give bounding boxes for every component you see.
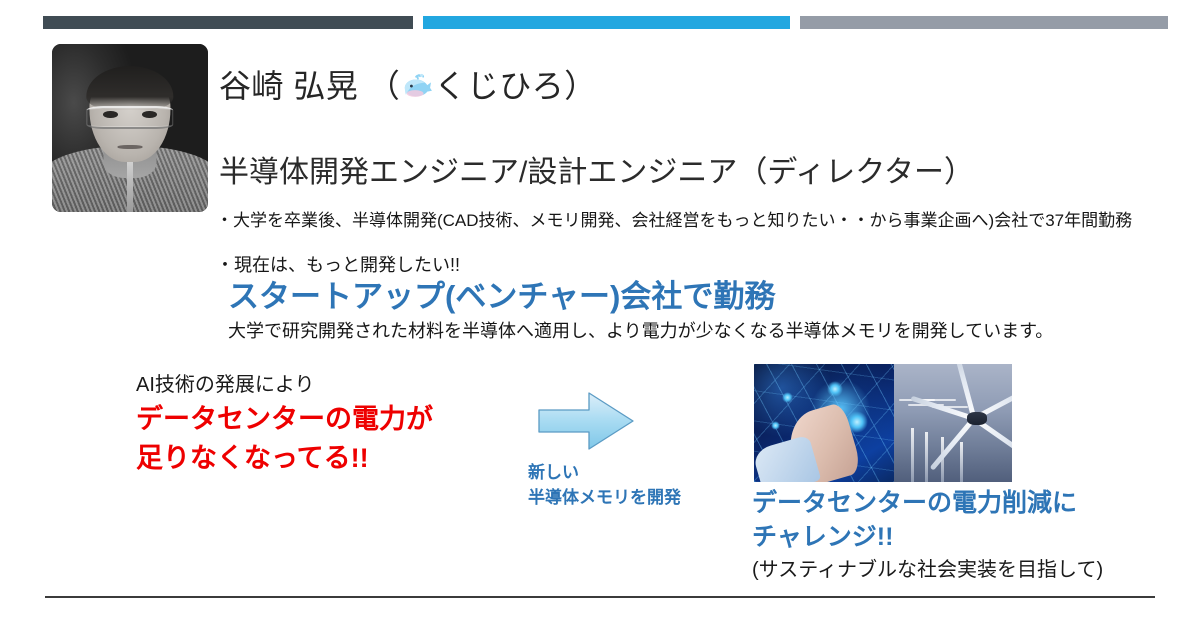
career-summary: ・大学を卒業後、半導体開発(CAD技術、メモリ開発、会社経営をもっと知りたい・・… bbox=[216, 210, 1132, 232]
turbine-hub bbox=[967, 412, 987, 425]
profile-name: 谷崎 弘晃 （ くじひろ） bbox=[219, 66, 597, 110]
portrait-collar bbox=[127, 155, 133, 212]
current-work-detail: 大学で研究開発された材料を半導体へ適用し、より電力が少なくなる半導体メモリを開発… bbox=[228, 320, 1053, 343]
problem-lead: AI技術の発展により bbox=[136, 372, 433, 398]
arrow-caption-line-1: 新しい bbox=[528, 461, 681, 486]
footer-divider bbox=[45, 596, 1155, 598]
portrait-photo bbox=[52, 44, 208, 212]
profile-name-handle: くじひろ） bbox=[434, 68, 597, 104]
network-node bbox=[771, 421, 780, 430]
turbine-pole bbox=[911, 428, 914, 482]
digital-network-photo bbox=[754, 364, 894, 482]
portrait-eye-left bbox=[103, 111, 117, 118]
current-status-lead: ・現在は、もっと開発したい!! bbox=[216, 254, 460, 277]
wind-turbine-photo bbox=[894, 364, 1012, 482]
problem-block: AI技術の発展により データセンターの電力が 足りなくなってる!! bbox=[136, 372, 433, 477]
problem-line-1: データセンターの電力が bbox=[136, 401, 433, 437]
challenge-subtitle: (サスティナブルな社会実装を目指して) bbox=[752, 557, 1103, 583]
challenge-line-1: データセンターの電力削減に bbox=[752, 487, 1103, 521]
turbine-pole bbox=[960, 442, 963, 482]
slide-root: 谷崎 弘晃 （ くじひろ） 半導体開発エンジニア/設計エンジニア（ディレクター）… bbox=[0, 0, 1200, 630]
whale-emoji-icon bbox=[402, 70, 432, 110]
profile-name-prefix: 谷崎 弘晃 （ bbox=[219, 68, 400, 104]
arrow-caption-line-2: 半導体メモリを開発 bbox=[528, 486, 681, 511]
header-bar-gray bbox=[800, 16, 1168, 29]
turbine-pole bbox=[925, 432, 928, 482]
challenge-line-2: チャレンジ!! bbox=[752, 521, 1103, 555]
header-bar-cyan bbox=[423, 16, 790, 29]
problem-line-2: 足りなくなってる!! bbox=[136, 440, 433, 476]
job-title: 半導体開発エンジニア/設計エンジニア（ディレクター） bbox=[219, 154, 974, 192]
challenge-block: データセンターの電力削減に チャレンジ!! (サスティナブルな社会実装を目指して… bbox=[752, 487, 1103, 583]
photo-row bbox=[754, 364, 1012, 482]
portrait-eye-right bbox=[142, 111, 156, 118]
arrow-caption: 新しい 半導体メモリを開発 bbox=[528, 461, 681, 510]
portrait-glasses bbox=[86, 106, 173, 128]
network-node bbox=[827, 381, 843, 397]
right-arrow-icon bbox=[537, 390, 635, 452]
portrait-mouth bbox=[118, 145, 143, 149]
current-company-highlight: スタートアップ(ベンチャー)会社で勤務 bbox=[228, 278, 775, 315]
header-bar-dark bbox=[43, 16, 413, 29]
